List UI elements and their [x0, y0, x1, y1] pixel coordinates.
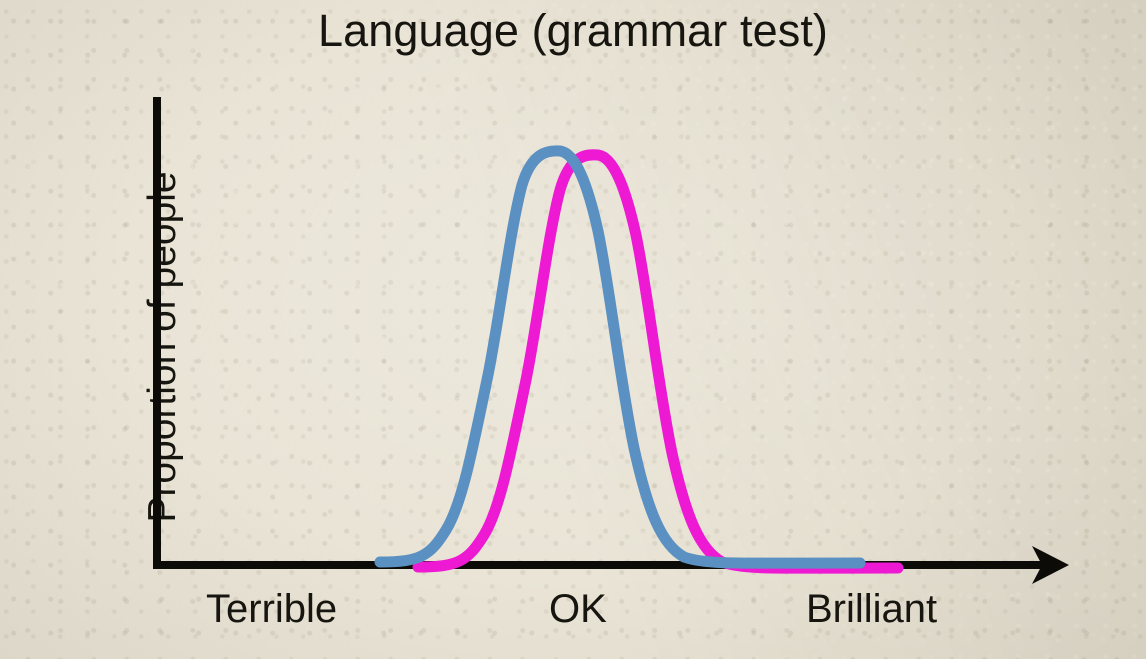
plot-area: [0, 0, 1146, 659]
x-axis-tick-label-terrible: Terrible: [206, 586, 337, 632]
chart-figure: Language (grammar test) Proportion of pe…: [0, 0, 1146, 659]
x-axis-tick-label-brilliant: Brilliant: [806, 586, 937, 632]
series-blue-distribution-line: [380, 151, 860, 563]
x-axis-tick-label-ok: OK: [549, 586, 607, 632]
